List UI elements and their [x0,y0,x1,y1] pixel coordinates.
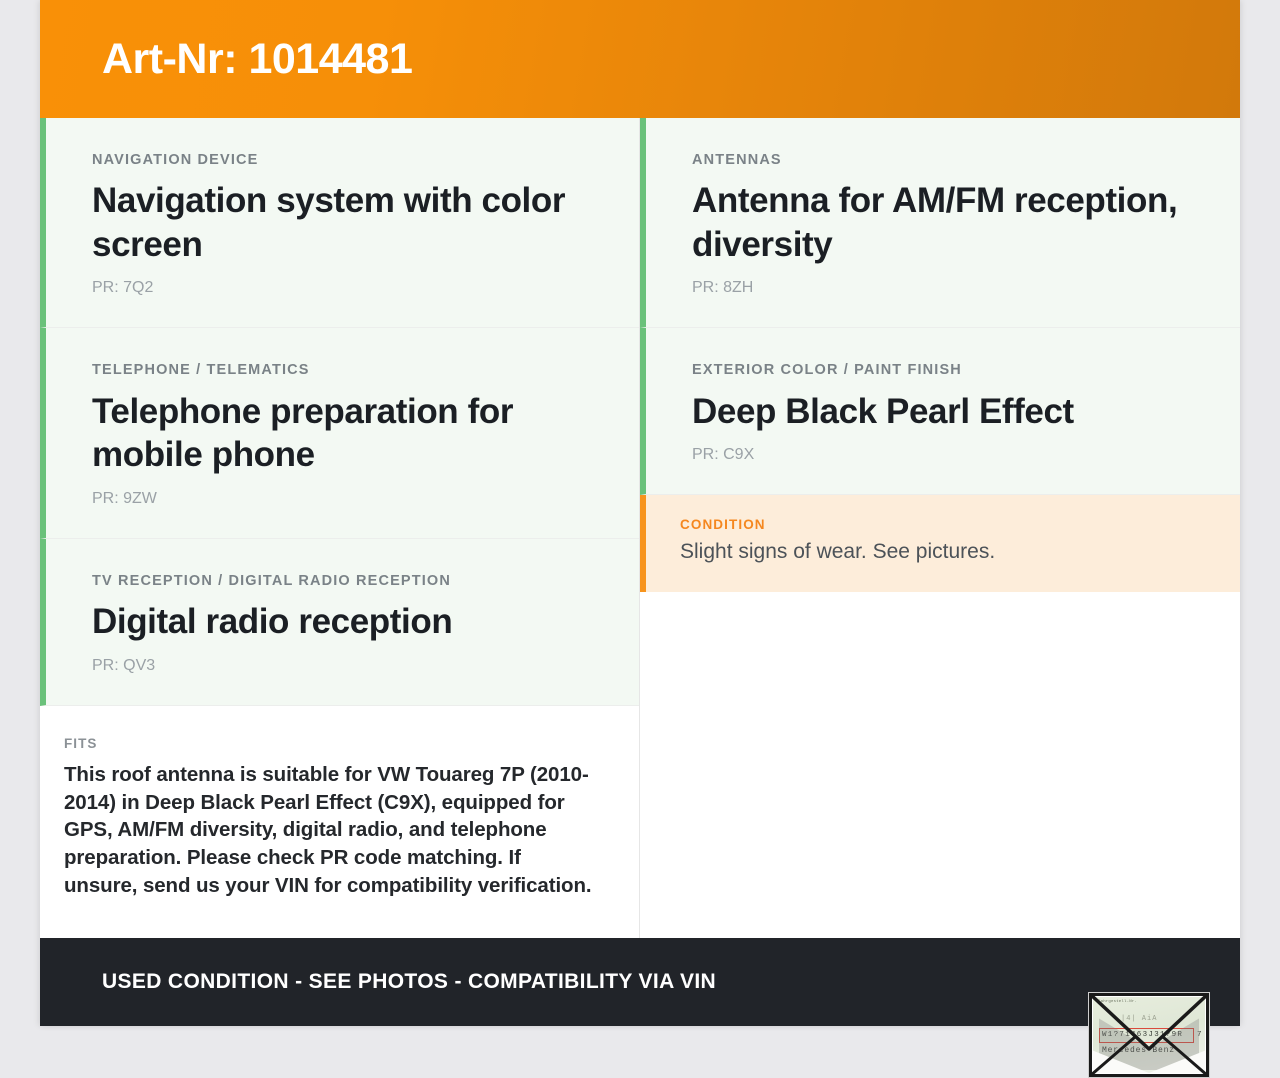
spec-card-title: Antenna for AM/FM reception, diversity [692,179,1194,266]
spec-card-title: Digital radio reception [92,600,593,643]
spec-card-tv-digital-radio: TV RECEPTION / DIGITAL RADIO RECEPTION D… [40,539,639,706]
condition-text: Slight signs of wear. See pictures. [680,538,1194,565]
left-column: NAVIGATION DEVICE Navigation system with… [40,118,640,938]
fits-label: FITS [64,736,599,751]
footer-text: USED CONDITION - SEE PHOTOS - COMPATIBIL… [102,970,716,994]
left-column-filler [40,920,639,938]
spec-card-pr-code: PR: QV3 [92,656,593,675]
spec-card-title: Telephone preparation for mobile phone [92,390,593,477]
vin-doc-label: Fahrgestell-Nr. [1098,1000,1137,1004]
spec-card-navigation-device: NAVIGATION DEVICE Navigation system with… [40,118,639,328]
condition-label: CONDITION [680,517,1194,532]
condition-card: CONDITION Slight signs of wear. See pict… [640,495,1240,591]
right-column: ANTENNAS Antenna for AM/FM reception, di… [640,118,1240,938]
spec-card-telephone-telematics: TELEPHONE / TELEMATICS Telephone prepara… [40,328,639,538]
envelope-vin-icon[interactable]: Fahrgestell-Nr. |4| AiA W1?71463J31?9R 7… [1088,992,1210,1078]
spec-card-label: TV RECEPTION / DIGITAL RADIO RECEPTION [92,573,593,590]
spec-sheet-page: Art-Nr: 1014481 NAVIGATION DEVICE Naviga… [40,0,1240,1026]
spec-card-pr-code: PR: C9X [692,445,1194,464]
spec-body: NAVIGATION DEVICE Navigation system with… [40,118,1240,938]
spec-card-title: Navigation system with color screen [92,179,593,266]
spec-card-exterior-color: EXTERIOR COLOR / PAINT FINISH Deep Black… [640,328,1240,495]
footer-bar: USED CONDITION - SEE PHOTOS - COMPATIBIL… [40,938,1240,1026]
spec-card-pr-code: PR: 9ZW [92,489,593,508]
header-bar: Art-Nr: 1014481 [40,0,1240,118]
vin-doc-blurred-line: |4| AiA [1121,1015,1157,1023]
spec-card-label: NAVIGATION DEVICE [92,152,593,169]
spec-card-pr-code: PR: 8ZH [692,278,1194,297]
spec-card-label: ANTENNAS [692,152,1194,169]
fits-description: This roof antenna is suitable for VW Tou… [64,761,599,900]
spec-card-label: TELEPHONE / TELEMATICS [92,362,593,379]
spec-card-antennas: ANTENNAS Antenna for AM/FM reception, di… [640,118,1240,328]
spec-card-pr-code: PR: 7Q2 [92,278,593,297]
spec-card-title: Deep Black Pearl Effect [692,390,1194,433]
spec-card-label: EXTERIOR COLOR / PAINT FINISH [692,362,1194,379]
fits-section: FITS This roof antenna is suitable for V… [40,706,639,920]
page-title: Art-Nr: 1014481 [102,38,412,81]
right-column-filler [640,592,1240,938]
